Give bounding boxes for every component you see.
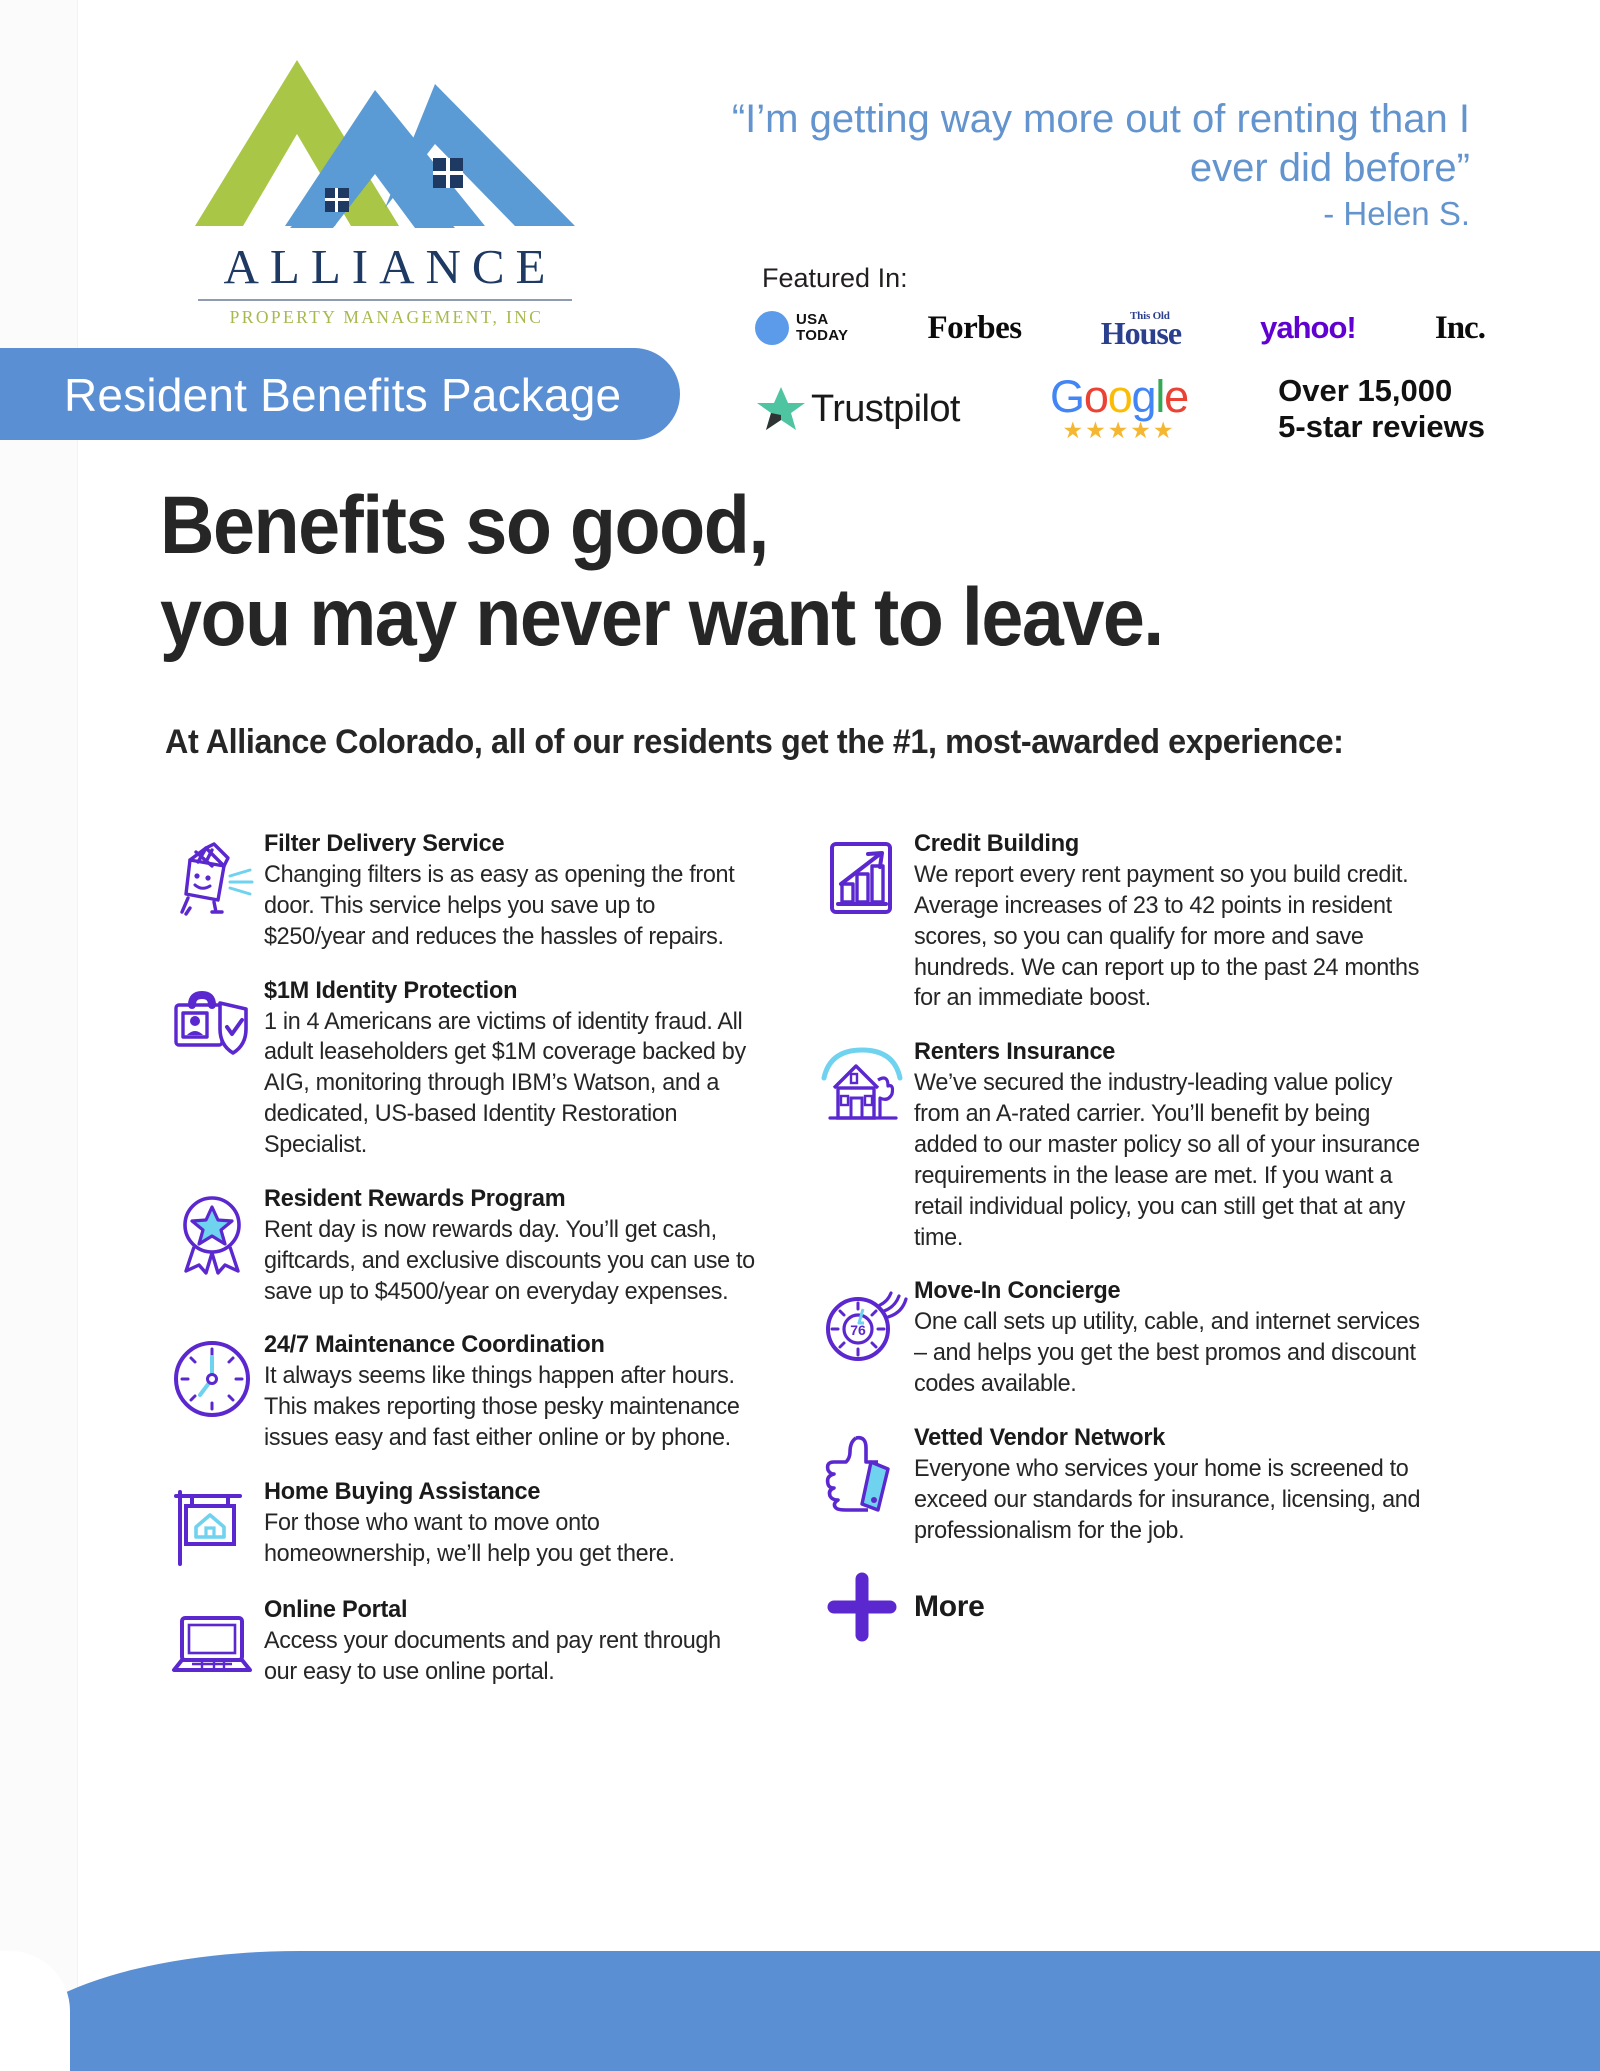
benefit-description: Rent day is now rewards day. You’ll get …	[264, 1215, 757, 1308]
header: ALLIANCE PROPERTY MANAGEMENT, INC “I’m g…	[0, 0, 1600, 350]
headline-line2: you may never want to leave.	[160, 572, 1411, 664]
benefit-maintenance-coordination: 24/7 Maintenance Coordination It always …	[160, 1329, 780, 1454]
benefits-column-left: Filter Delivery Service Changing filters…	[160, 828, 780, 1712]
benefit-description: 1 in 4 Americans are victims of identity…	[264, 1007, 757, 1161]
alliance-mountain-house-icon	[185, 48, 585, 248]
usa-today-line2: TODAY	[796, 327, 848, 344]
benefit-filter-delivery: Filter Delivery Service Changing filters…	[160, 828, 780, 953]
benefit-renters-insurance: Renters Insurance We’ve secured the indu…	[810, 1036, 1450, 1253]
house-umbrella-icon	[810, 1036, 914, 1253]
featured-in-label: Featured In:	[762, 263, 908, 294]
benefit-title: Renters Insurance	[914, 1038, 1429, 1066]
ringing-alarm-icon: 76	[810, 1275, 914, 1400]
testimonial-quote: “I’m getting way more out of renting tha…	[690, 95, 1470, 193]
clock-icon	[160, 1329, 264, 1454]
logo-divider	[198, 299, 572, 301]
award-ribbon-icon	[160, 1183, 264, 1308]
benefit-description: One call sets up utility, cable, and int…	[914, 1307, 1426, 1400]
laptop-icon	[160, 1594, 264, 1690]
this-old-house-big: House	[1101, 317, 1181, 349]
bar-chart-growth-icon	[810, 828, 914, 1014]
review-count-line2: 5-star reviews	[1278, 409, 1485, 445]
usa-today-logo: USA TODAY	[755, 311, 848, 345]
google-letter-l: l	[1155, 371, 1164, 422]
benefit-title: Move-In Concierge	[914, 1277, 1429, 1305]
thumbs-up-icon	[810, 1422, 914, 1547]
benefit-credit-building: Credit Building We report every rent pay…	[810, 828, 1450, 1014]
benefit-description: Access your documents and pay rent throu…	[264, 1626, 757, 1688]
benefit-title: 24/7 Maintenance Coordination	[264, 1331, 759, 1359]
inc-logo: Inc.	[1435, 310, 1485, 347]
press-logos-row: USA TODAY Forbes This Old House yahoo! I…	[755, 300, 1485, 356]
benefit-title: $1M Identity Protection	[264, 977, 759, 1005]
benefit-description: We report every rent payment so you buil…	[914, 860, 1426, 1014]
headline-line1: Benefits so good,	[160, 480, 1411, 572]
yahoo-logo: yahoo!	[1260, 310, 1356, 346]
benefit-vetted-vendors: Vetted Vendor Network Everyone who servi…	[810, 1422, 1450, 1547]
benefit-title: Resident Rewards Program	[264, 1185, 759, 1213]
benefit-more: More	[810, 1569, 1450, 1645]
page-footer-bar	[0, 1951, 1600, 2071]
page-subheading: At Alliance Colorado, all of our residen…	[165, 723, 1495, 762]
forbes-logo: Forbes	[927, 310, 1021, 347]
benefit-title: Home Buying Assistance	[264, 1478, 759, 1506]
resident-benefits-flyer: ALLIANCE PROPERTY MANAGEMENT, INC “I’m g…	[0, 0, 1600, 2071]
company-logo: ALLIANCE PROPERTY MANAGEMENT, INC	[185, 48, 585, 328]
for-sale-sign-icon	[160, 1476, 264, 1572]
usa-today-line1: USA	[796, 311, 829, 328]
benefit-title: Online Portal	[264, 1596, 759, 1624]
id-shield-icon	[160, 975, 264, 1161]
reviews-row: Trustpilot Google ★★★★★ Over 15,000 5-st…	[755, 372, 1485, 446]
benefit-resident-rewards: Resident Rewards Program Rent day is now…	[160, 1183, 780, 1308]
google-letter-g2: g	[1132, 371, 1156, 422]
benefit-online-portal: Online Portal Access your documents and …	[160, 1594, 780, 1690]
svg-text:76: 76	[850, 1322, 866, 1338]
review-count-line1: Over 15,000	[1278, 373, 1485, 409]
trustpilot-logo: Trustpilot	[755, 384, 960, 434]
usa-today-dot-icon	[755, 311, 789, 345]
google-star-rating: ★★★★★	[1050, 417, 1188, 444]
benefit-home-buying: Home Buying Assistance For those who wan…	[160, 1476, 780, 1572]
benefit-movein-concierge: 76 Move-In Concierge One call sets up ut…	[810, 1275, 1450, 1400]
benefit-description: Everyone who services your home is scree…	[914, 1454, 1426, 1547]
trustpilot-star-icon	[755, 384, 807, 434]
trustpilot-label: Trustpilot	[811, 388, 960, 431]
this-old-house-logo: This Old House	[1101, 307, 1181, 349]
google-letter-g1: G	[1050, 371, 1084, 422]
banner-title: Resident Benefits Package	[64, 368, 621, 422]
benefits-column-right: Credit Building We report every rent pay…	[810, 828, 1450, 1645]
google-letter-o1: o	[1084, 371, 1108, 422]
benefit-description: Changing filters is as easy as opening t…	[264, 860, 757, 953]
logo-tagline: PROPERTY MANAGEMENT, INC	[185, 307, 585, 328]
plus-icon	[810, 1569, 914, 1645]
benefit-title: Vetted Vendor Network	[914, 1424, 1429, 1452]
filter-box-icon	[160, 828, 264, 953]
more-label: More	[914, 1590, 984, 1624]
benefit-title: Credit Building	[914, 830, 1429, 858]
benefit-description: For those who want to move onto homeowne…	[264, 1508, 757, 1570]
google-logo: Google ★★★★★	[1050, 374, 1188, 444]
logo-wordmark: ALLIANCE	[185, 242, 585, 291]
review-count-block: Over 15,000 5-star reviews	[1278, 373, 1485, 444]
testimonial-attribution: - Helen S.	[690, 195, 1470, 233]
page-headline: Benefits so good, you may never want to …	[160, 480, 1411, 664]
benefit-title: Filter Delivery Service	[264, 830, 759, 858]
benefit-description: It always seems like things happen after…	[264, 1361, 757, 1454]
benefit-identity-protection: $1M Identity Protection 1 in 4 Americans…	[160, 975, 780, 1161]
google-letter-e: e	[1164, 371, 1188, 422]
benefit-description: We’ve secured the industry-leading value…	[914, 1068, 1426, 1253]
google-letter-o2: o	[1108, 371, 1132, 422]
